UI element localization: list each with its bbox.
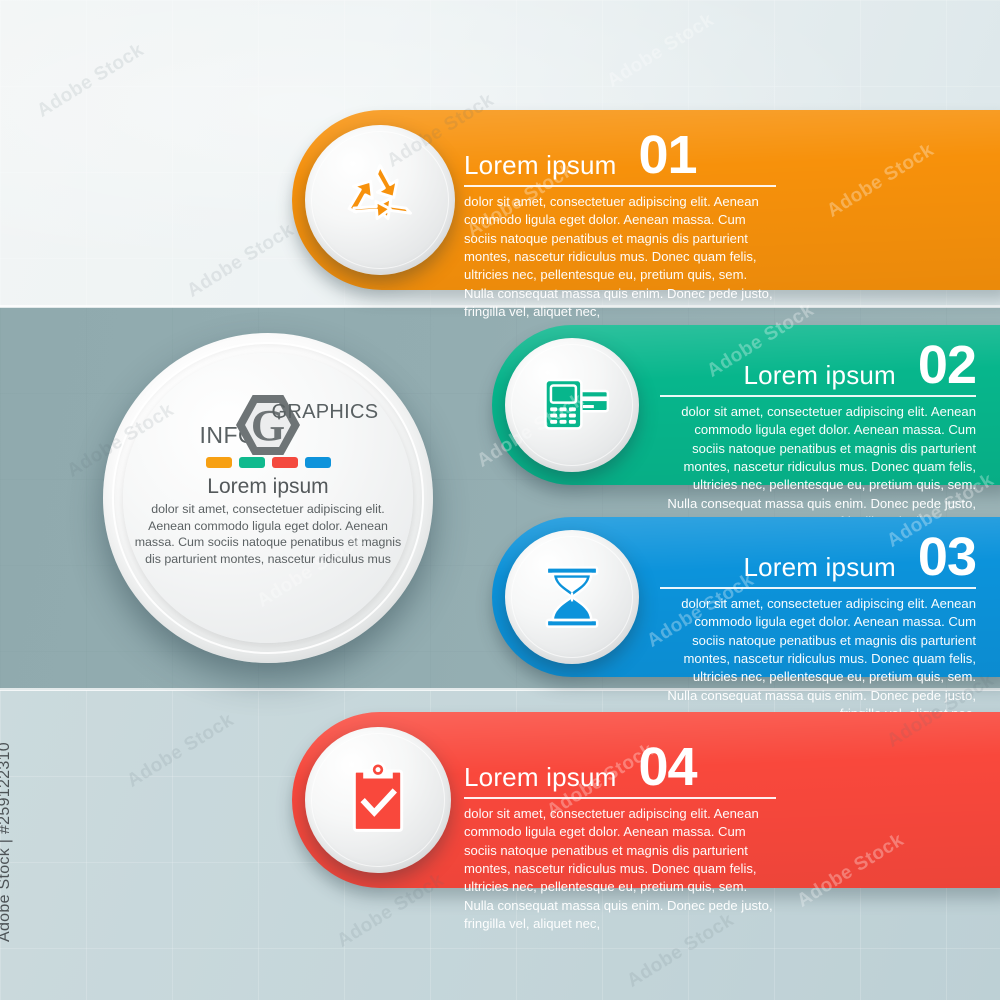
row-01-icon-disc[interactable] (305, 125, 455, 275)
row-04-rule (464, 797, 776, 799)
row-03-icon-disc[interactable] (505, 530, 639, 664)
row-04-header: Lorem ipsum 04 (464, 740, 776, 794)
row-03-rule (660, 587, 976, 589)
clipboard-check-icon (341, 759, 415, 841)
logo-graphics-text: GRAPHICS (272, 401, 379, 424)
card-payment-terminal-icon (533, 366, 611, 444)
row-01-title: Lorem ipsum (464, 152, 616, 182)
medallion-content: INFO G GRAPHICS Lorem ipsum dolor sit am… (103, 399, 433, 567)
row-03-number: 03 (918, 530, 976, 584)
row-01-rule (464, 185, 776, 187)
medallion-body: dolor sit amet, consectetuer adipiscing … (129, 501, 407, 567)
recycle-icon (337, 157, 423, 243)
row-03-header: Lorem ipsum 03 (660, 530, 976, 584)
center-medallion[interactable]: INFO G GRAPHICS Lorem ipsum dolor sit am… (103, 333, 433, 663)
row-02-text: Lorem ipsum 02 dolor sit amet, consectet… (660, 338, 976, 531)
row-02-title: Lorem ipsum (743, 362, 895, 392)
row-04-icon-disc[interactable] (305, 727, 451, 873)
row-02-icon-disc[interactable] (505, 338, 639, 472)
row-01-header: Lorem ipsum 01 (464, 128, 776, 182)
row-02-body: dolor sit amet, consectetuer adipiscing … (660, 403, 976, 531)
row-01-body: dolor sit amet, consectetuer adipiscing … (464, 193, 776, 321)
chip-orange (206, 457, 232, 468)
chip-green (239, 457, 265, 468)
row-04-body: dolor sit amet, consectetuer adipiscing … (464, 805, 776, 933)
chip-red (272, 457, 298, 468)
row-02-header: Lorem ipsum 02 (660, 338, 976, 392)
infographic-canvas: Lorem ipsum 01 dolor sit amet, consectet… (0, 0, 1000, 1000)
row-02-rule (660, 395, 976, 397)
row-01-text: Lorem ipsum 01 dolor sit amet, consectet… (464, 128, 776, 321)
row-04-text: Lorem ipsum 04 dolor sit amet, consectet… (464, 740, 776, 933)
row-03-text: Lorem ipsum 03 dolor sit amet, consectet… (660, 530, 976, 723)
row-03-title: Lorem ipsum (743, 554, 895, 584)
row-04-title: Lorem ipsum (464, 764, 616, 794)
hourglass-icon (535, 558, 609, 636)
row-03-body: dolor sit amet, consectetuer adipiscing … (660, 595, 976, 723)
row-02-number: 02 (918, 338, 976, 392)
stock-credit-label: Adobe Stock | #259122310 (0, 742, 14, 942)
infographics-logo: INFO G GRAPHICS (129, 399, 407, 451)
row-04-number: 04 (638, 740, 696, 794)
logo-color-chips (129, 457, 407, 468)
row-01-number: 01 (638, 128, 696, 182)
chip-blue (305, 457, 331, 468)
medallion-title: Lorem ipsum (129, 475, 407, 499)
